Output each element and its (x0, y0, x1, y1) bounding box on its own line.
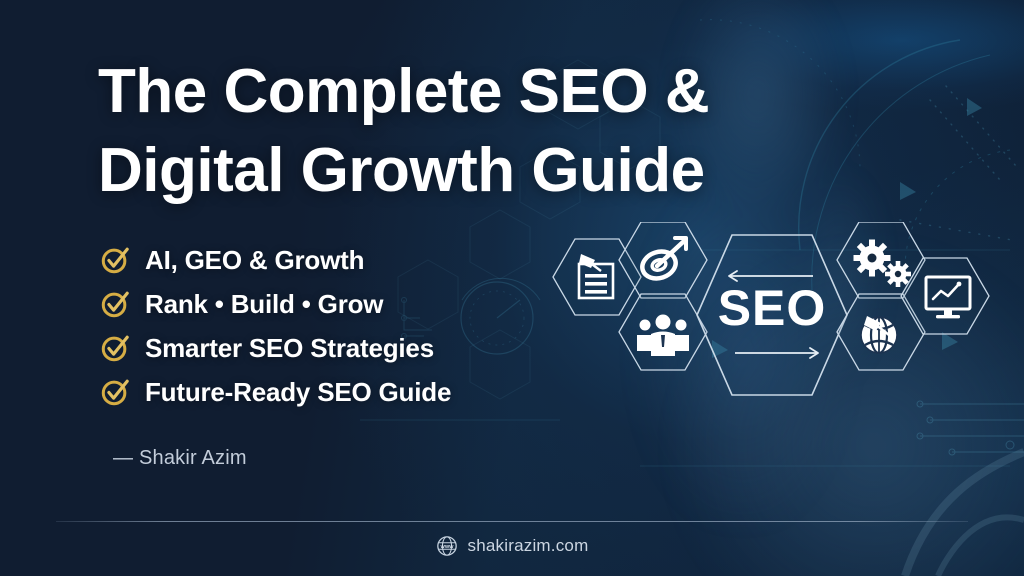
list-item: Future-Ready SEO Guide (100, 375, 451, 409)
list-item-label: Rank • Build • Grow (145, 289, 383, 320)
footer-url-label: shakirazim.com (468, 536, 589, 556)
list-item-label: AI, GEO & Growth (145, 245, 364, 276)
title-line-2: Digital Growth Guide (98, 131, 898, 210)
feature-bullet-list: AI, GEO & Growth Rank • Build • Grow Sma… (100, 243, 451, 409)
footer-divider (56, 521, 968, 522)
check-circle-icon (100, 245, 130, 275)
seo-center-label: SEO (718, 280, 827, 336)
globe-network-icon (861, 316, 897, 353)
check-circle-icon (100, 289, 130, 319)
list-item-label: Future-Ready SEO Guide (145, 377, 451, 408)
presentation-slide: The Complete SEO & Digital Growth Guide … (0, 0, 1024, 576)
title-line-1: The Complete SEO & (98, 52, 898, 131)
list-item: Rank • Build • Grow (100, 287, 451, 321)
svg-text:WWW: WWW (440, 544, 454, 549)
page-title: The Complete SEO & Digital Growth Guide (98, 52, 898, 211)
seo-hexagon-graphic: SEO (545, 222, 997, 408)
check-circle-icon (100, 377, 130, 407)
footer: WWW shakirazim.com (0, 535, 1024, 557)
list-item: AI, GEO & Growth (100, 243, 451, 277)
check-circle-icon (100, 333, 130, 363)
list-item-label: Smarter SEO Strategies (145, 333, 434, 364)
list-item: Smarter SEO Strategies (100, 331, 451, 365)
team-people-icon (637, 315, 689, 357)
author-byline: — Shakir Azim (113, 447, 247, 470)
globe-www-icon: WWW (436, 535, 458, 557)
